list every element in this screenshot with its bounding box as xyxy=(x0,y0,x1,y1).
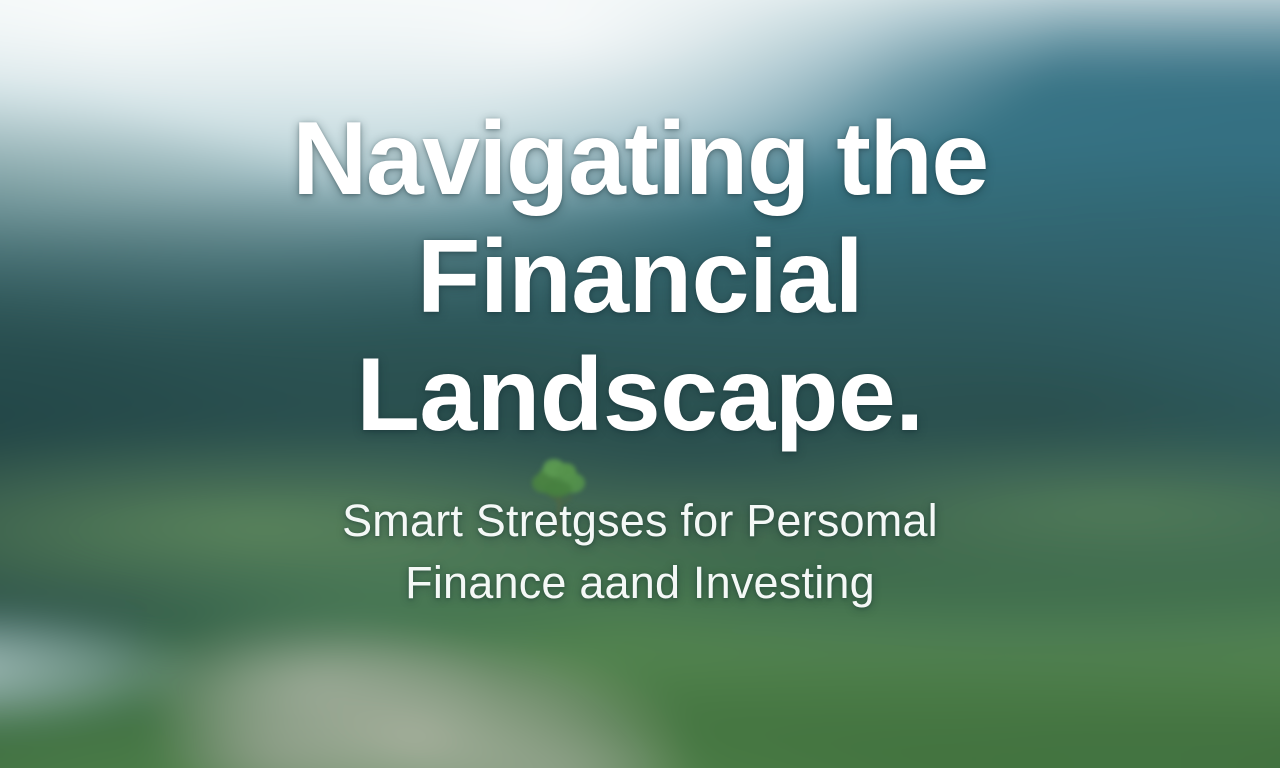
page-title: Navigating the Financial Landscape. xyxy=(292,0,988,454)
title-line-2: Financial xyxy=(292,218,988,336)
poster-canvas: Navigating the Financial Landscape. Smar… xyxy=(0,0,1280,768)
page-subtitle: Smart Stretgses for Persomal Finance aan… xyxy=(342,454,938,614)
subtitle-line-2: Finance aand Investing xyxy=(342,552,938,614)
subtitle-line-1: Smart Stretgses for Persomal xyxy=(342,490,938,552)
text-overlay: Navigating the Financial Landscape. Smar… xyxy=(0,0,1280,768)
title-line-1: Navigating the xyxy=(292,100,988,218)
title-line-3: Landscape. xyxy=(292,336,988,454)
